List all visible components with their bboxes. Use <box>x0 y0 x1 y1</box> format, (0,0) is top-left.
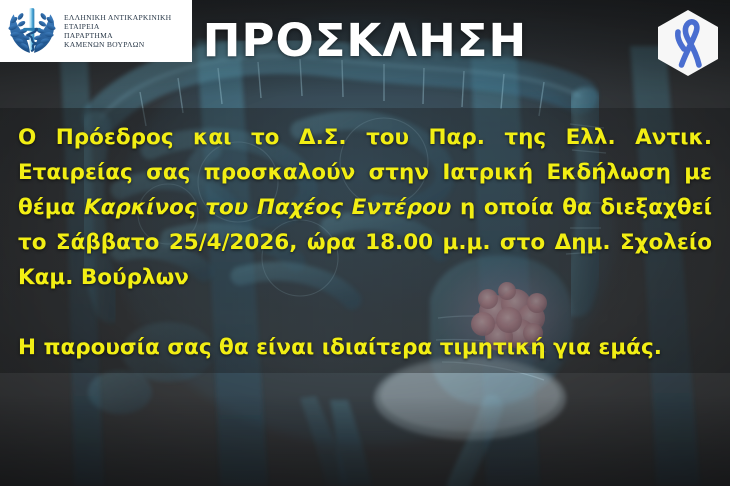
paragraph-spacer <box>18 295 712 330</box>
org-line-2: ΕΤΑΙΡΕΙΑ <box>64 22 171 31</box>
closing-line: Η παρουσία σας θα είναι ιδιαίτερα τιμητι… <box>18 330 712 365</box>
laurel-wreath-caduceus-icon <box>6 5 58 57</box>
awareness-ribbon-badge <box>654 8 722 78</box>
invitation-paragraph: Ο Πρόεδρος και το Δ.Σ. του Παρ. της Ελλ.… <box>18 120 712 295</box>
org-line-3: ΠΑΡΑΡΤΗΜΑ <box>64 31 171 40</box>
organisation-logo-badge: ΕΛΛΗΝΙΚΗ ΑΝΤΙΚΑΡΚΙΝΙΚΗ ΕΤΑΙΡΕΙΑ ΠΑΡΑΡΤΗΜ… <box>0 0 192 62</box>
org-line-4: ΚΑΜΕΝΩΝ ΒΟΥΡΛΩΝ <box>64 40 171 49</box>
org-line-1: ΕΛΛΗΝΙΚΗ ΑΝΤΙΚΑΡΚΙΝΙΚΗ <box>64 13 171 22</box>
event-topic: Καρκίνος του Παχέος Εντέρου <box>84 195 451 220</box>
organisation-name-block: ΕΛΛΗΝΙΚΗ ΑΝΤΙΚΑΡΚΙΝΙΚΗ ΕΤΑΙΡΕΙΑ ΠΑΡΑΡΤΗΜ… <box>64 13 171 50</box>
invitation-body: Ο Πρόεδρος και το Δ.Σ. του Παρ. της Ελλ.… <box>18 120 712 365</box>
invitation-poster: ΕΛΛΗΝΙΚΗ ΑΝΤΙΚΑΡΚΙΝΙΚΗ ΕΤΑΙΡΕΙΑ ΠΑΡΑΡΤΗΜ… <box>0 0 730 486</box>
